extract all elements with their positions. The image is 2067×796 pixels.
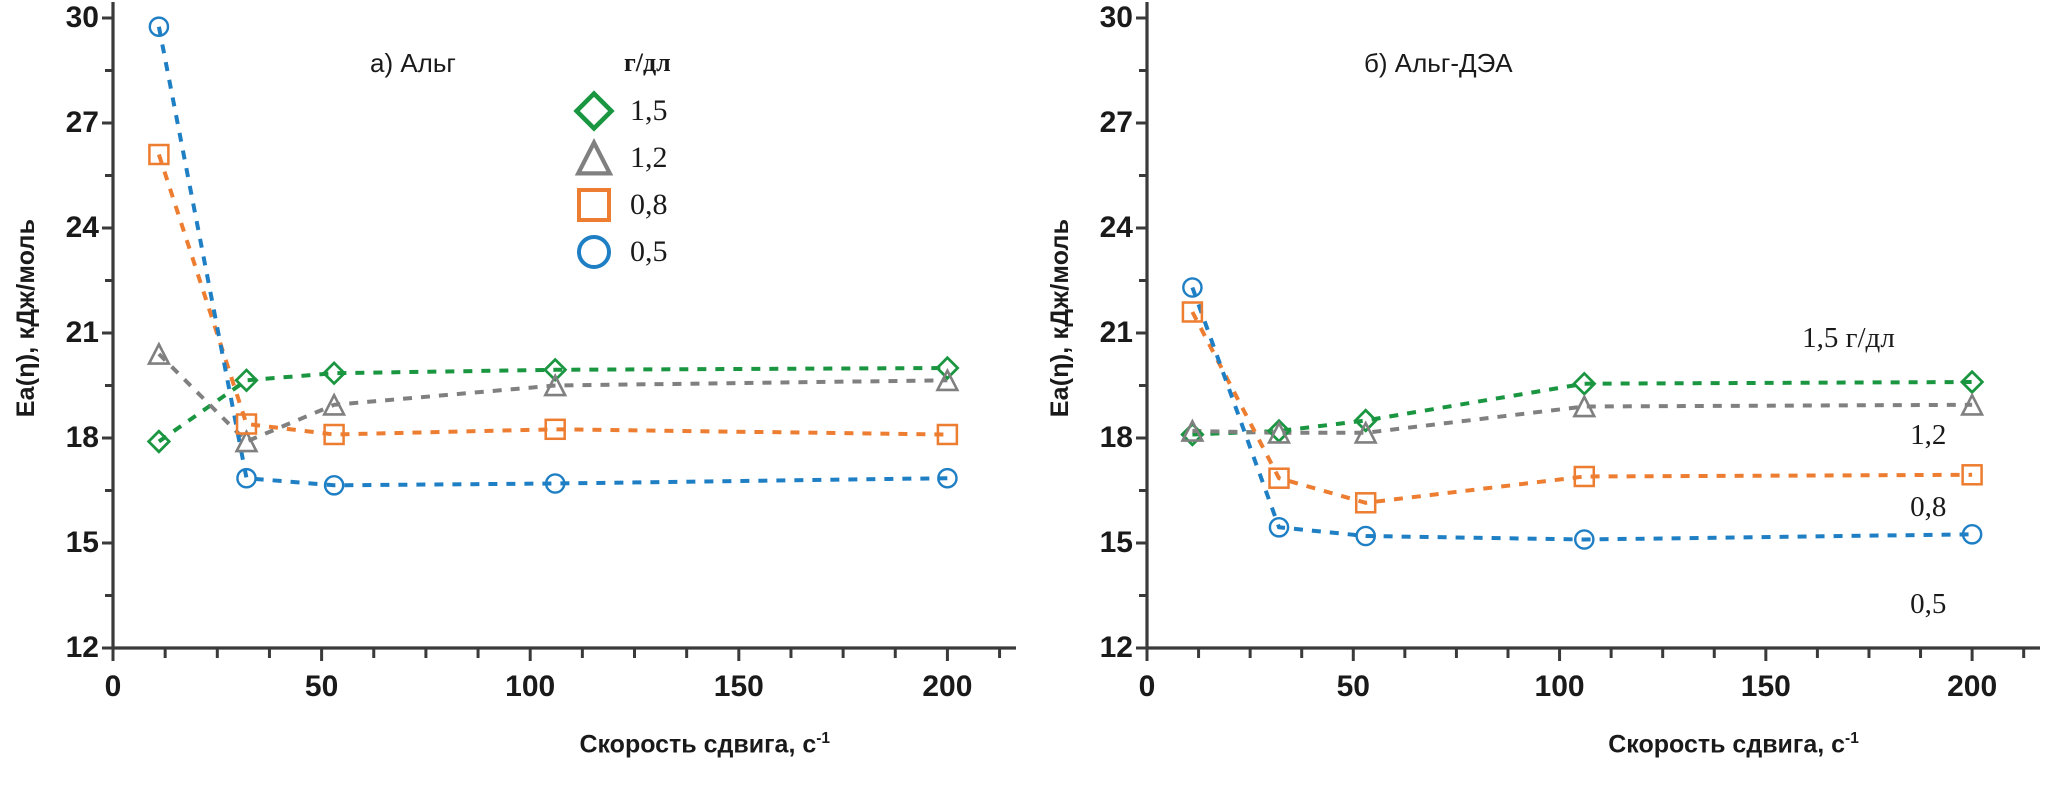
chart-panel-b: Ea(η), кДж/моль б) Альг-ДЭА 121518212427… (1034, 0, 2067, 796)
series-label-1-5: 1,5 г/дл (1802, 322, 1895, 355)
diamond-icon (568, 88, 620, 134)
y-tick-label: 18 (1081, 421, 1133, 455)
x-tick-label: 50 (1313, 670, 1393, 704)
x-tick-label: 0 (1107, 670, 1187, 704)
y-tick-label: 12 (47, 631, 99, 665)
legend-item-0-8[interactable]: 0,8 (568, 182, 668, 228)
x-tick-label: 200 (907, 670, 987, 704)
circle-icon (568, 229, 620, 275)
x-axis-title-text-b: Скорость сдвига, с (1608, 730, 1845, 758)
x-tick-label: 50 (282, 670, 362, 704)
legend-item-label: 1,5 (630, 94, 668, 128)
legend-item-0-5[interactable]: 0,5 (568, 229, 668, 275)
y-tick-label: 27 (1081, 106, 1133, 140)
x-tick-label: 150 (1726, 670, 1806, 704)
y-axis-title-a: Ea(η), кДж/моль (6, 0, 46, 648)
x-tick-label: 150 (699, 670, 779, 704)
x-axis-title-sup-b: -1 (1845, 730, 1859, 747)
legend-item-1-2[interactable]: 1,2 (568, 135, 668, 181)
y-tick-label: 30 (1081, 1, 1133, 35)
y-tick-label: 21 (47, 316, 99, 350)
series-label-0-5: 0,5 (1910, 588, 1946, 621)
x-tick-label: 200 (1932, 670, 2012, 704)
y-axis-title-b: Ea(η), кДж/моль (1040, 0, 1080, 648)
y-tick-label: 27 (47, 106, 99, 140)
x-tick-label: 100 (1520, 670, 1600, 704)
figure-root: Ea(η), кДж/моль a) Альг 12151821242730 0… (0, 0, 2067, 796)
y-tick-label: 18 (47, 421, 99, 455)
y-tick-label: 24 (1081, 211, 1133, 245)
legend-item-label: 0,8 (630, 188, 668, 222)
legend-header: г/дл (624, 48, 671, 78)
y-tick-label: 21 (1081, 316, 1133, 350)
x-tick-label: 0 (73, 670, 153, 704)
legend-item-label: 0,5 (630, 235, 668, 269)
legend-item-1-5[interactable]: 1,5 (568, 88, 668, 134)
y-tick-label: 24 (47, 211, 99, 245)
x-axis-title-a: Скорость сдвига, с-1 (579, 730, 830, 759)
x-axis-title-text-a: Скорость сдвига, с (579, 730, 816, 758)
y-tick-label: 15 (47, 526, 99, 560)
plot-area-b (1147, 18, 2034, 648)
y-tick-label: 15 (1081, 526, 1133, 560)
x-axis-title-sup-a: -1 (816, 730, 830, 747)
legend-a: г/дл 1,51,20,80,5 (560, 48, 780, 238)
legend-item-label: 1,2 (630, 141, 668, 175)
x-tick-label: 100 (490, 670, 570, 704)
square-icon (568, 182, 620, 228)
x-axis-title-b: Скорость сдвига, с-1 (1608, 730, 1859, 759)
y-tick-label: 30 (47, 1, 99, 35)
triangle-icon (568, 135, 620, 181)
series-label-1-2: 1,2 (1910, 419, 1946, 452)
chart-panel-a: Ea(η), кДж/моль a) Альг 12151821242730 0… (0, 0, 1033, 796)
y-tick-label: 12 (1081, 631, 1133, 665)
series-label-0-8: 0,8 (1910, 491, 1946, 524)
